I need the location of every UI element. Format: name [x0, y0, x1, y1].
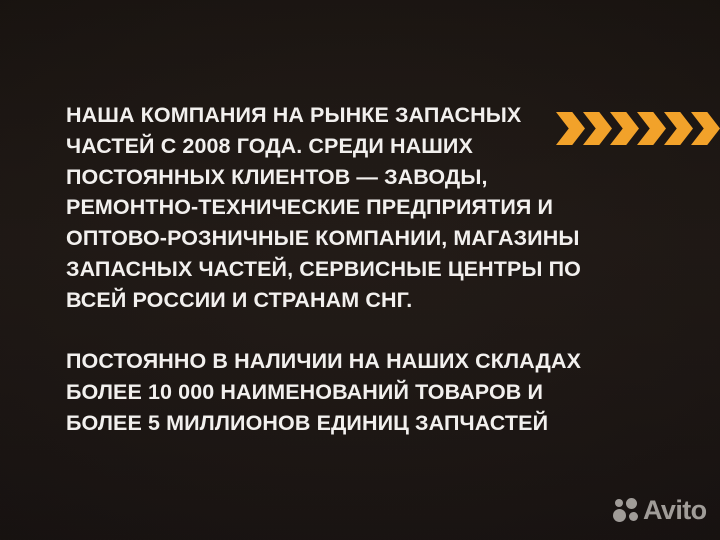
chevron-right-icon [637, 112, 666, 145]
avito-dot-large [613, 509, 626, 522]
avito-dot-small [615, 499, 623, 507]
promo-banner: НАША КОМПАНИЯ НА РЫНКЕ ЗАПАСНЫХ ЧАСТЕЙ С… [0, 0, 720, 540]
avito-dot-medium [626, 498, 637, 509]
banner-copy-block: НАША КОМПАНИЯ НА РЫНКЕ ЗАПАСНЫХ ЧАСТЕЙ С… [66, 100, 626, 439]
chevron-right-icon [691, 112, 720, 145]
avito-dots-icon [613, 498, 641, 524]
about-company-paragraph: НАША КОМПАНИЯ НА РЫНКЕ ЗАПАСНЫХ ЧАСТЕЙ С… [66, 100, 626, 316]
stock-availability-paragraph: ПОСТОЯННО В НАЛИЧИИ НА НАШИХ СКЛАДАХ БОЛ… [66, 346, 626, 438]
avito-watermark: Avito [613, 497, 707, 524]
avito-wordmark: Avito [643, 497, 707, 524]
avito-dot-small-lower [629, 512, 638, 521]
chevron-right-icon [664, 112, 693, 145]
